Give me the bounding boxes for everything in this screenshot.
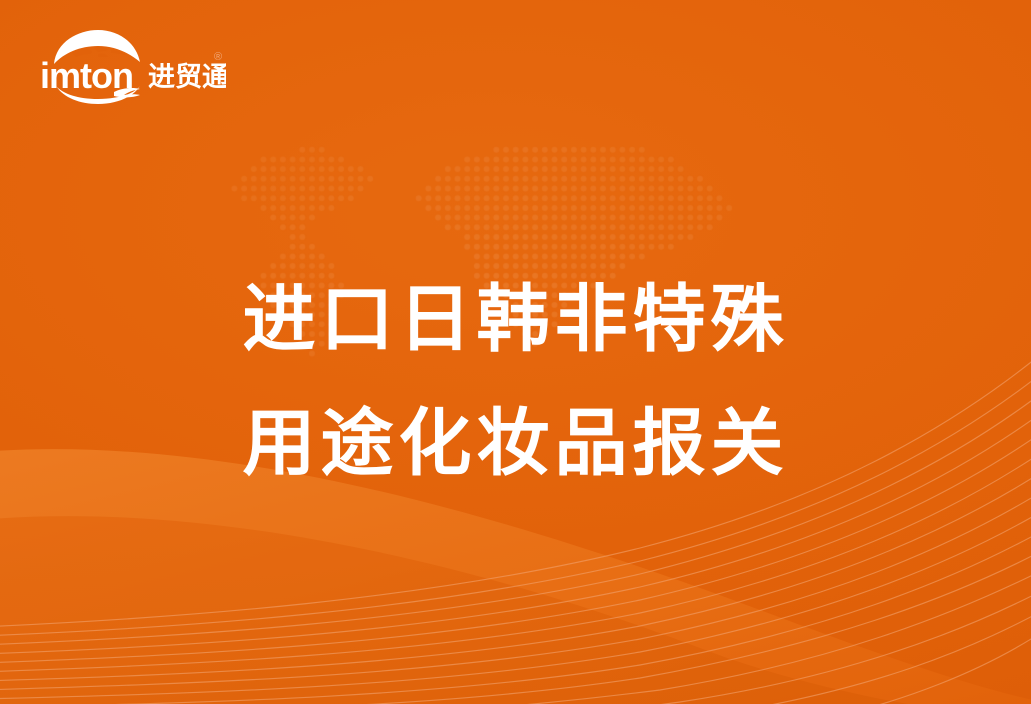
trademark-icon: ®: [214, 51, 222, 63]
logo-wordmark-chinese: 进贸通: [148, 62, 226, 92]
title-line-1: 进口日韩非特殊: [0, 258, 1031, 382]
poster-canvas: imton 进贸通 ® 进口日韩非特殊 用途化妆品报关: [0, 0, 1031, 704]
logo-artwork: imton 进贸通 ®: [36, 26, 226, 106]
title-line-2: 用途化妆品报关: [0, 382, 1031, 506]
logo-wordmark-latin: imton: [40, 55, 133, 96]
imton-logo[interactable]: imton 进贸通 ®: [36, 26, 226, 106]
page-title: 进口日韩非特殊 用途化妆品报关: [0, 258, 1031, 506]
